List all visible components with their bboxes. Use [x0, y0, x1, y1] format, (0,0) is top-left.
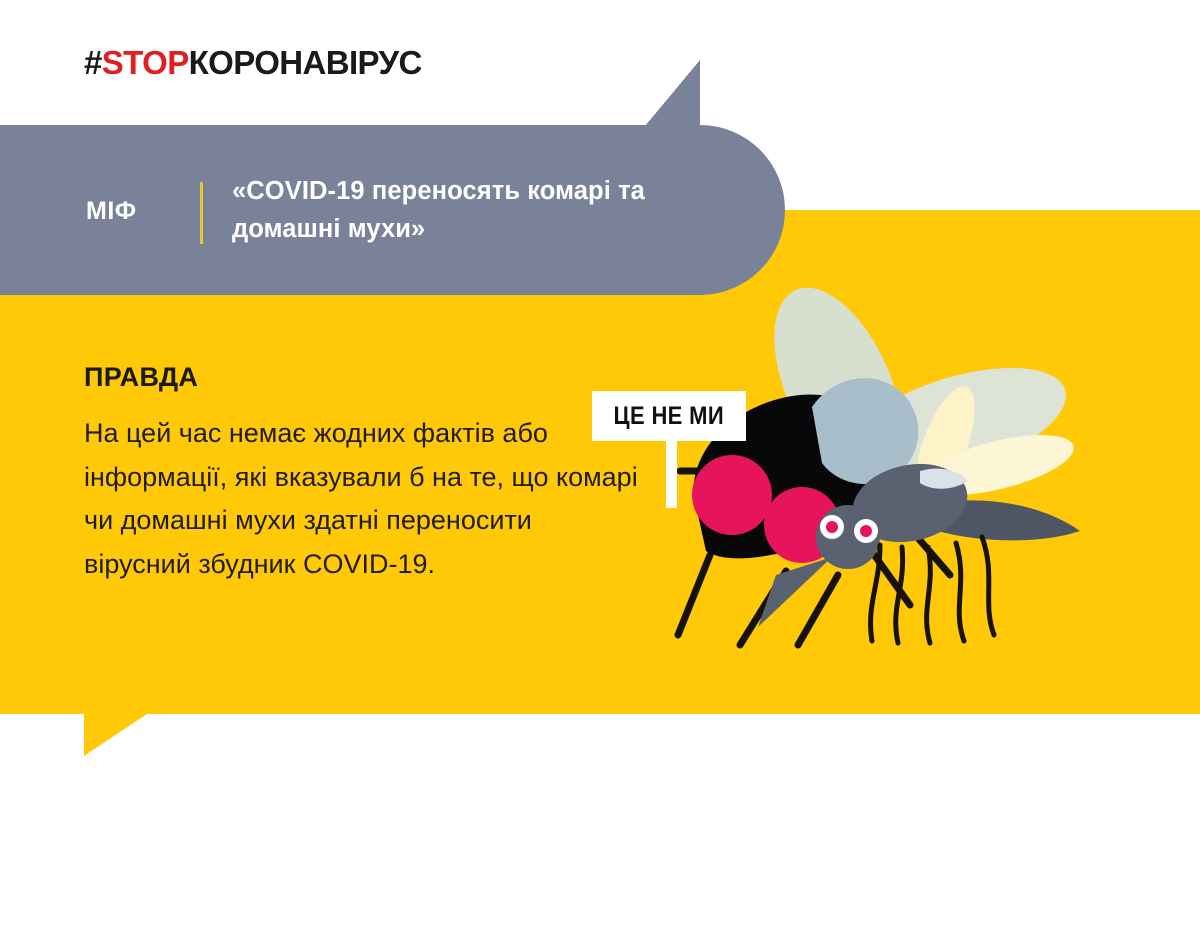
yellow-panel-tail	[84, 712, 150, 756]
myth-label: МІФ	[86, 197, 137, 226]
truth-title: ПРАВДА	[84, 362, 198, 393]
hashtag-symbol: #	[84, 44, 102, 81]
hashtag-stop-word: STOP	[102, 44, 189, 81]
hashtag-coronavirus-word: КОРОНАВІРУС	[189, 44, 422, 81]
myth-banner: МІФ «COVID-19 переносять комарі та домаш…	[0, 125, 785, 295]
protest-sign: ЦЕ НЕ МИ	[592, 391, 746, 441]
sign-post-icon	[655, 430, 689, 508]
sign-label: ЦЕ НЕ МИ	[614, 402, 724, 431]
truth-body: На цей час немає жодних фактів або інфор…	[84, 412, 644, 587]
myth-statement: «COVID-19 переносять комарі та домашні м…	[232, 173, 752, 248]
infographic-poster: #STOPКОРОНАВІРУС	[0, 0, 1200, 944]
myth-divider	[200, 182, 203, 244]
footer: МІНІСТЕРСТВО ОХОРОНИ ЗДОРОВ'Я УКРАЇНИ	[0, 760, 1200, 944]
campaign-hashtag: #STOPКОРОНАВІРУС	[84, 44, 422, 82]
myth-bubble-tail	[640, 60, 700, 132]
fly-eye-left	[692, 455, 772, 535]
